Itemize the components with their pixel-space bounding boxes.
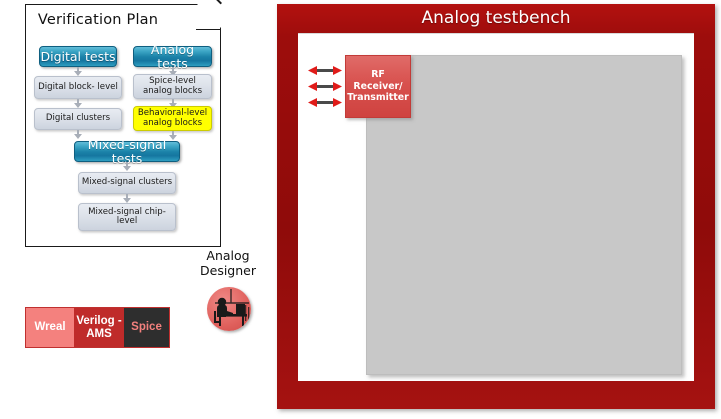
verification-plan-title: Verification Plan xyxy=(0,12,196,28)
node-mixed-signal-clusters[interactable]: Mixed-signal clusters xyxy=(78,172,176,194)
analog-designer-label: Analog Designer xyxy=(189,249,267,278)
rf-receiver-transmitter-block[interactable]: RF Receiver/ Transmitter xyxy=(345,55,411,118)
testbench-canvas[interactable] xyxy=(366,55,682,375)
io-arrow-2 xyxy=(308,81,342,92)
node-digital-block-level[interactable]: Digital block- level xyxy=(34,76,122,99)
analog-designer-label-line1: Analog xyxy=(189,249,267,264)
legend-segment-verilog-ams[interactable]: Verilog -AMS xyxy=(74,308,124,347)
node-mixed-signal-chip-level[interactable]: Mixed-signal chip- level xyxy=(78,203,176,231)
io-arrow-3 xyxy=(308,97,342,108)
legend-segment-wreal[interactable]: Wreal xyxy=(26,308,74,347)
legend-segment-spice[interactable]: Spice xyxy=(124,308,169,347)
analog-testbench-frame: Analog testbench xyxy=(277,4,715,409)
analog-designer-group: Analog Designer xyxy=(189,249,267,337)
analog-testbench-title: Analog testbench xyxy=(277,8,715,28)
node-behavioral-level-analog-blocks[interactable]: Behavioral-level analog blocks xyxy=(133,106,212,131)
abstraction-legend-bar: Wreal Verilog -AMS Spice xyxy=(25,307,170,348)
node-mixed-signal-tests[interactable]: Mixed-signal tests xyxy=(74,141,180,162)
analog-designer-label-line2: Designer xyxy=(189,264,267,279)
io-arrow-1 xyxy=(308,65,342,76)
node-analog-tests[interactable]: Analog tests xyxy=(133,46,212,67)
node-spice-level-analog-blocks[interactable]: Spice-level analog blocks xyxy=(133,74,212,99)
node-digital-clusters[interactable]: Digital clusters xyxy=(34,108,122,130)
node-digital-tests[interactable]: Digital tests xyxy=(39,46,117,67)
person-at-computer-icon xyxy=(207,287,251,331)
